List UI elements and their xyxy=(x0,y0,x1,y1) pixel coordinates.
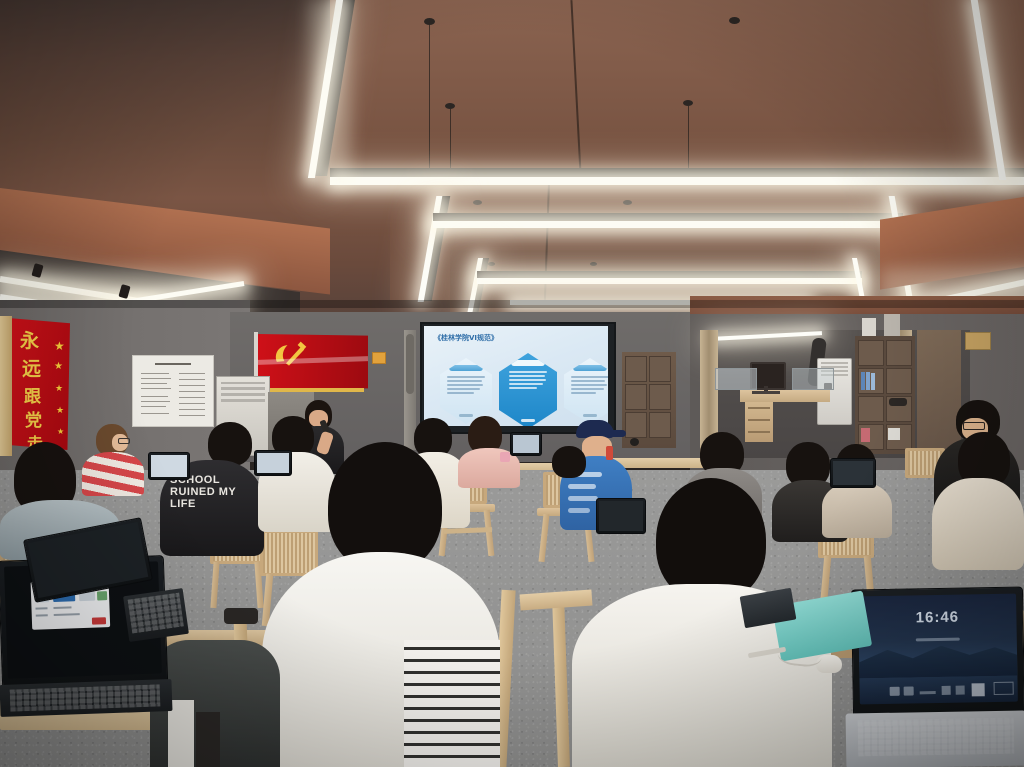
led-glow-outer-bottom xyxy=(330,165,1024,193)
shelf-top-item xyxy=(862,318,876,336)
slide-hexagon-2[interactable] xyxy=(499,353,557,426)
led-glow-3 xyxy=(466,262,870,290)
shelf-item-white xyxy=(888,428,900,440)
banner-star-4: ★ xyxy=(56,406,64,415)
desk-item-pink xyxy=(500,452,510,462)
slide-hexagon-3[interactable] xyxy=(564,358,608,424)
laptop-back-left-1[interactable] xyxy=(148,452,190,480)
hex-3-body xyxy=(571,376,608,396)
taskbar-icon-5[interactable] xyxy=(956,686,965,695)
banner-pole xyxy=(0,316,12,456)
right-cream-torso xyxy=(932,478,1024,570)
slide-hexagon-1[interactable] xyxy=(440,358,492,424)
lock-screen-clock: 16:46 xyxy=(858,608,1016,628)
office-partition-glass xyxy=(715,368,757,390)
shelf-top-frame xyxy=(884,314,900,336)
foreground-laptop-base xyxy=(0,679,173,717)
banner-char-3: 党 xyxy=(25,406,42,431)
ceiling-mount-1 xyxy=(424,18,435,25)
bookshelf xyxy=(855,336,915,454)
wall-pipe xyxy=(406,334,414,394)
taskbar-icon-6[interactable] xyxy=(972,683,985,696)
hex-1-tag xyxy=(459,414,473,417)
hex-2-heading xyxy=(511,360,545,366)
shelf-book-3 xyxy=(871,373,875,390)
ceiling-panel-upper xyxy=(330,0,1024,180)
shelf-box xyxy=(889,398,907,406)
glasses-icon-2 xyxy=(963,422,985,430)
slide-title: 《桂林学院VI规范》 xyxy=(434,333,498,343)
wall-plaque xyxy=(965,332,991,350)
laptop-foreground-2-base xyxy=(123,588,189,642)
taskbar-icon-4[interactable] xyxy=(942,686,951,695)
right-laptop-base xyxy=(846,710,1024,767)
hex-2-body xyxy=(509,371,547,391)
taskbar-icon-3[interactable] xyxy=(920,691,936,694)
led-glow-outer-left xyxy=(310,0,350,190)
wall-shadow-line xyxy=(0,300,1024,308)
shelf-item-red xyxy=(861,428,870,442)
right-laptop-keys[interactable] xyxy=(858,718,1015,757)
desk-bottle-red xyxy=(606,446,613,460)
cap-brim xyxy=(608,430,626,437)
plaid-garment xyxy=(404,640,500,767)
glasses-icon xyxy=(118,438,130,444)
shelf-book-1 xyxy=(861,372,865,390)
hammer-and-sickle-icon xyxy=(266,339,312,371)
office-drawer-unit xyxy=(745,402,773,442)
laptop-back-left-1-screen xyxy=(151,455,187,477)
desk-item-dark xyxy=(630,438,639,446)
desk-pouch xyxy=(224,608,258,624)
striped-torso xyxy=(82,452,144,496)
person-head-back-4 xyxy=(552,446,586,478)
hex-1-body xyxy=(447,376,485,396)
hex-1-heading xyxy=(449,365,483,371)
hex-3-heading xyxy=(573,365,607,371)
projector-screen[interactable]: 《桂林学院VI规范》 xyxy=(424,326,608,426)
shoe-left xyxy=(196,712,220,767)
left-bookshelf xyxy=(622,352,676,448)
banner-star-1: ★ xyxy=(54,340,65,352)
laptop-back-left-2[interactable] xyxy=(254,450,292,476)
ceiling-wire-1 xyxy=(429,25,430,180)
taskbar-icon-2[interactable] xyxy=(904,686,914,695)
red-vertical-banner: 永 远 跟 党 走 ★ ★ ★ ★ ★ xyxy=(6,318,70,450)
foreground-laptop-keys[interactable] xyxy=(10,684,161,711)
banner-star-2: ★ xyxy=(54,362,63,372)
wood-cabinet xyxy=(917,330,961,452)
laptop-center-1[interactable] xyxy=(510,432,542,456)
shelf-book-2 xyxy=(866,372,870,390)
wall-small-sign xyxy=(372,352,386,364)
banner-star-5: ★ xyxy=(57,428,64,436)
monitor-base xyxy=(752,391,780,394)
taskbar-icon-7[interactable] xyxy=(994,682,1014,695)
banner-char-1: 远 xyxy=(22,354,41,381)
wall-notice-poster xyxy=(132,355,214,427)
laptop-mid-right[interactable] xyxy=(596,498,646,534)
cpc-flag xyxy=(258,334,368,390)
banner-char-2: 跟 xyxy=(24,382,41,407)
laptop-right-back[interactable] xyxy=(830,458,876,488)
person-torso-back-3 xyxy=(822,482,892,538)
led-glow-2 xyxy=(420,200,910,236)
taskbar-icon-1[interactable] xyxy=(890,687,900,696)
ceiling-mount-4 xyxy=(729,17,740,24)
office-partition-glass-2 xyxy=(792,368,834,390)
banner-char-0: 永 xyxy=(20,326,39,353)
right-laptop[interactable]: 16:46 xyxy=(851,587,1024,718)
ac-cabinet-vent xyxy=(221,382,265,402)
chair-back-left-2[interactable] xyxy=(260,530,318,576)
banner-star-3: ★ xyxy=(55,384,63,393)
classroom-photo: 永 远 跟 党 走 ★ ★ ★ ★ ★ xyxy=(0,0,1024,767)
hex-2-tag xyxy=(521,419,535,422)
hex-3-tag xyxy=(583,414,597,417)
right-laptop-screen: 16:46 xyxy=(858,594,1018,705)
